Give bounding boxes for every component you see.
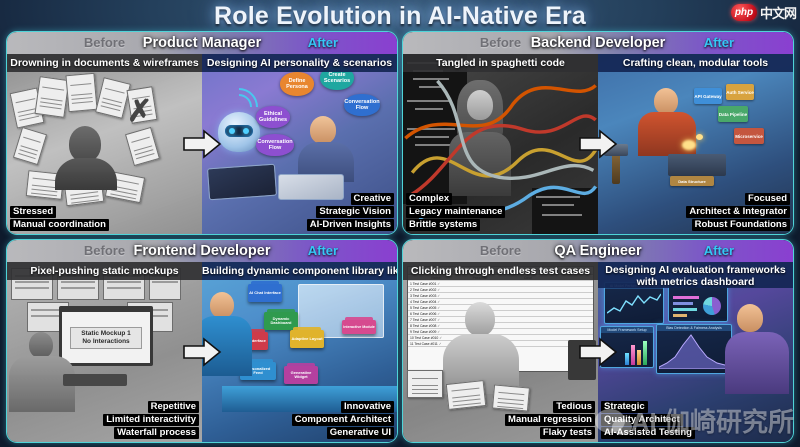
- mockup-screen-text: Static Mockup 1No Interactions: [70, 327, 142, 349]
- paper-sheet: [125, 127, 160, 166]
- tag: AI-Driven Insights: [307, 219, 394, 231]
- monitor: [568, 340, 596, 380]
- panel-body: Pixel-pushing static mockups Static Mock…: [7, 262, 397, 442]
- paper-sheet: [95, 77, 131, 119]
- row-name: Test Case #006: [413, 312, 437, 316]
- before-half: Clicking through endless test cases Name…: [403, 262, 598, 442]
- row-index: 11: [410, 342, 414, 346]
- watermark-text: 中文网: [760, 3, 796, 22]
- designer-head: [310, 116, 336, 144]
- tag: Flaky tests: [540, 427, 595, 439]
- idea-bubble: Conversation Flow: [344, 94, 380, 116]
- panel-header-qa-engineer: Before QA Engineer After: [403, 240, 793, 262]
- after-caption: Crafting clean, modular tools: [598, 54, 793, 72]
- row-name: Test Case #009: [413, 330, 437, 334]
- table-row[interactable]: 8 Test Case #008 ✓: [408, 324, 593, 329]
- after-caption: Designing AI evaluation frameworks with …: [598, 262, 793, 288]
- row-status: ✓: [437, 312, 440, 316]
- row-name: Test Case #001: [413, 282, 437, 286]
- after-tag-list: Innovative Component Architect Generativ…: [292, 401, 394, 439]
- panel-body: Tangled in spaghetti code: [403, 54, 793, 234]
- panel-backend-developer[interactable]: Before Backend Developer After Tangled i…: [402, 31, 794, 235]
- tag: Stressed: [10, 206, 56, 218]
- after-half: Designing AI evaluation frameworks with …: [598, 262, 793, 442]
- before-half: Drowning in documents & wireframes ✗: [7, 54, 202, 234]
- tag: Generative UI: [327, 427, 394, 439]
- robot-visor: [225, 125, 253, 137]
- row-index: 1: [410, 282, 412, 286]
- tag: Manual regression: [505, 414, 595, 426]
- forge-spark: [696, 134, 703, 140]
- row-index: 8: [410, 324, 412, 328]
- before-tag-list: Repetitive Limited interactivity Waterfa…: [103, 401, 199, 439]
- row-index: 9: [410, 330, 412, 334]
- row-index: 3: [410, 294, 412, 298]
- before-caption: Pixel-pushing static mockups: [7, 262, 202, 280]
- panel-frontend-developer[interactable]: Before Frontend Developer After Pixel-pu…: [6, 239, 398, 443]
- before-caption: Tangled in spaghetti code: [403, 54, 598, 72]
- php-logo-badge: php: [731, 4, 757, 21]
- row-status: ✓: [437, 300, 440, 304]
- panel-body: Drowning in documents & wireframes ✗: [7, 54, 397, 234]
- before-tag-list: Stressed Manual coordination: [10, 206, 109, 231]
- tag: AI-Assisted Testing: [601, 427, 695, 439]
- stressed-person-body: [55, 158, 117, 190]
- paper-stack: [407, 370, 443, 398]
- page-title: Role Evolution in AI-Native Era: [0, 1, 800, 31]
- row-index: 5: [410, 306, 412, 310]
- monitor-screen: Static Mockup 1No Interactions: [62, 312, 150, 363]
- dashboard-panel[interactable]: AI Model Performance Metrics: [604, 282, 664, 324]
- dashboard-panel[interactable]: Model Framework Setup: [600, 326, 654, 368]
- tag: Focused: [745, 193, 790, 205]
- module-block: API Gateway: [694, 88, 722, 104]
- row-name: Test Case #007: [413, 318, 437, 322]
- line-chart: [607, 291, 661, 319]
- hammer-head: [604, 144, 628, 156]
- row-name: Test Case #005: [413, 306, 437, 310]
- before-tag-list: Tedious Manual regression Flaky tests: [505, 401, 595, 439]
- after-label: After: [645, 240, 793, 262]
- lego-block: AI Chat Interface: [248, 284, 282, 302]
- after-tag-list: Strategic Quality Architect AI-Assisted …: [601, 401, 695, 439]
- idea-bubble: Define Persona: [280, 72, 314, 96]
- row-status: ✓: [439, 342, 442, 346]
- tag: Legacy maintenance: [406, 206, 505, 218]
- tag: Strategic Vision: [316, 206, 394, 218]
- module-block: Data Pipeline: [718, 106, 748, 122]
- panel-header-frontend-developer: Before Frontend Developer After: [7, 240, 397, 262]
- after-tag-list: Creative Strategic Vision AI-Driven Insi…: [307, 193, 394, 231]
- before-caption: Drowning in documents & wireframes: [7, 54, 202, 72]
- row-name: Test Case #010: [415, 336, 439, 340]
- tag: Innovative: [341, 401, 394, 413]
- before-tag-list: Complex Legacy maintenance Brittle syste…: [406, 193, 505, 231]
- row-status: ✓: [437, 288, 440, 292]
- after-label: After: [249, 32, 397, 54]
- before-half: Tangled in spaghetti code: [403, 54, 598, 234]
- forge-spark: [682, 140, 696, 150]
- before-half: Pixel-pushing static mockups Static Mock…: [7, 262, 202, 442]
- keyboard: [63, 374, 127, 386]
- tag: Quality Architect: [601, 414, 683, 426]
- lego-block: Adaptive Layout: [290, 330, 324, 348]
- tag: Strategic: [601, 401, 648, 413]
- developer-head: [210, 292, 234, 318]
- module-block: Data Structure: [670, 176, 714, 186]
- tag: Repetitive: [148, 401, 199, 413]
- developer-head: [29, 332, 53, 358]
- robot-eye: [229, 128, 235, 134]
- table-row[interactable]: 2 Test Case #002 ✓: [408, 288, 593, 293]
- lego-block: Interactive Module: [342, 320, 376, 334]
- area-chart: [659, 333, 729, 369]
- row-status: ✓: [437, 330, 440, 334]
- tag: Manual coordination: [10, 219, 109, 231]
- panel-header-product-manager: Before Product Manager After: [7, 32, 397, 54]
- table-row[interactable]: 1 Test Case #001 ✓: [408, 282, 593, 287]
- paper-stack: [446, 380, 487, 410]
- idea-bubble: Conversation Flow: [256, 134, 294, 156]
- tag: Complex: [406, 193, 452, 205]
- dashboard-title: Model Framework Setup: [601, 327, 653, 333]
- after-caption: Building dynamic component library like …: [202, 262, 397, 280]
- anvil: [668, 154, 726, 176]
- row-index: 2: [410, 288, 412, 292]
- tablet-device: [207, 164, 277, 201]
- monitor: Static Mockup 1No Interactions: [59, 306, 153, 366]
- table-row[interactable]: 7 Test Case #007 ✓: [408, 318, 593, 323]
- engineer-body: [725, 332, 789, 394]
- after-label: After: [645, 32, 793, 54]
- row-index: 7: [410, 318, 412, 322]
- site-watermark: php 中文网: [731, 2, 796, 22]
- paper-sheet: [65, 73, 97, 112]
- engineer-head: [737, 304, 763, 332]
- idea-bubble: Ethical Guidelines: [256, 106, 290, 128]
- tag: Tedious: [553, 401, 595, 413]
- table-row[interactable]: 5 Test Case #005 ✓: [408, 306, 593, 311]
- infographic-canvas: Role Evolution in AI-Native Era php 中文网 …: [0, 0, 800, 447]
- panel-body: Clicking through endless test cases Name…: [403, 262, 793, 442]
- table-row[interactable]: 4 Test Case #004 ✓: [408, 300, 593, 305]
- red-x-icon: ✗: [127, 94, 152, 129]
- dashboard-panel[interactable]: Bias Detection & Fairness Analysis: [656, 324, 732, 374]
- paper-sheet: [35, 76, 70, 118]
- row-name: Test Case #002: [413, 288, 437, 292]
- row-status: ✓: [437, 318, 440, 322]
- tag: Brittle systems: [406, 219, 480, 231]
- before-caption: Clicking through endless test cases: [403, 262, 598, 280]
- after-label: After: [249, 240, 397, 262]
- table-row[interactable]: 3 Test Case #003 ✓: [408, 294, 593, 299]
- row-index: 6: [410, 312, 412, 316]
- ai-robot-avatar: [218, 112, 260, 152]
- stressed-person-head: [69, 126, 101, 162]
- tag: Robust Foundations: [692, 219, 790, 231]
- developer-body: [202, 316, 252, 376]
- row-name: Test Case #004: [413, 300, 437, 304]
- dashboard-title: Bias Detection & Fairness Analysis: [657, 325, 731, 331]
- lego-block: Generative Widget: [284, 366, 318, 384]
- module-block: Auth Service: [726, 84, 754, 100]
- row-status: ✓: [437, 324, 440, 328]
- row-status: ✓: [437, 294, 440, 298]
- row-index: 10: [410, 336, 414, 340]
- tester-head: [465, 302, 495, 336]
- row-name: Test Case #008: [413, 324, 437, 328]
- paper-sheet: [13, 127, 47, 165]
- after-half: Building dynamic component library like …: [202, 262, 397, 442]
- after-caption: Designing AI personality & scenarios: [202, 54, 397, 72]
- panel-product-manager[interactable]: Before Product Manager After Drowning in…: [6, 31, 398, 235]
- row-name: Test Case #011: [414, 342, 437, 346]
- row-index: 4: [410, 300, 412, 304]
- after-tag-list: Focused Architect & Integrator Robust Fo…: [686, 193, 790, 231]
- smith-head: [654, 88, 678, 114]
- panel-header-backend-developer: Before Backend Developer After: [403, 32, 793, 54]
- panel-qa-engineer[interactable]: Before QA Engineer After Clicking throug…: [402, 239, 794, 443]
- after-half: Designing AI personality & scenarios Def…: [202, 54, 397, 234]
- robot-eye: [243, 128, 249, 134]
- row-name: Test Case #003: [413, 294, 437, 298]
- tag: Architect & Integrator: [686, 206, 790, 218]
- after-half: Crafting clean, modular tools API Gatewa…: [598, 54, 793, 234]
- row-status: ✓: [437, 306, 440, 310]
- table-row[interactable]: 6 Test Case #006 ✓: [408, 312, 593, 317]
- tag: Creative: [351, 193, 395, 205]
- tag: Limited interactivity: [103, 414, 199, 426]
- module-block: Microservice: [734, 128, 764, 144]
- panel-grid: Before Product Manager After Drowning in…: [6, 31, 794, 443]
- tag: Waterfall process: [114, 427, 199, 439]
- row-status: ✓: [437, 282, 440, 286]
- row-status: ✓: [439, 336, 442, 340]
- tag: Component Architect: [292, 414, 394, 426]
